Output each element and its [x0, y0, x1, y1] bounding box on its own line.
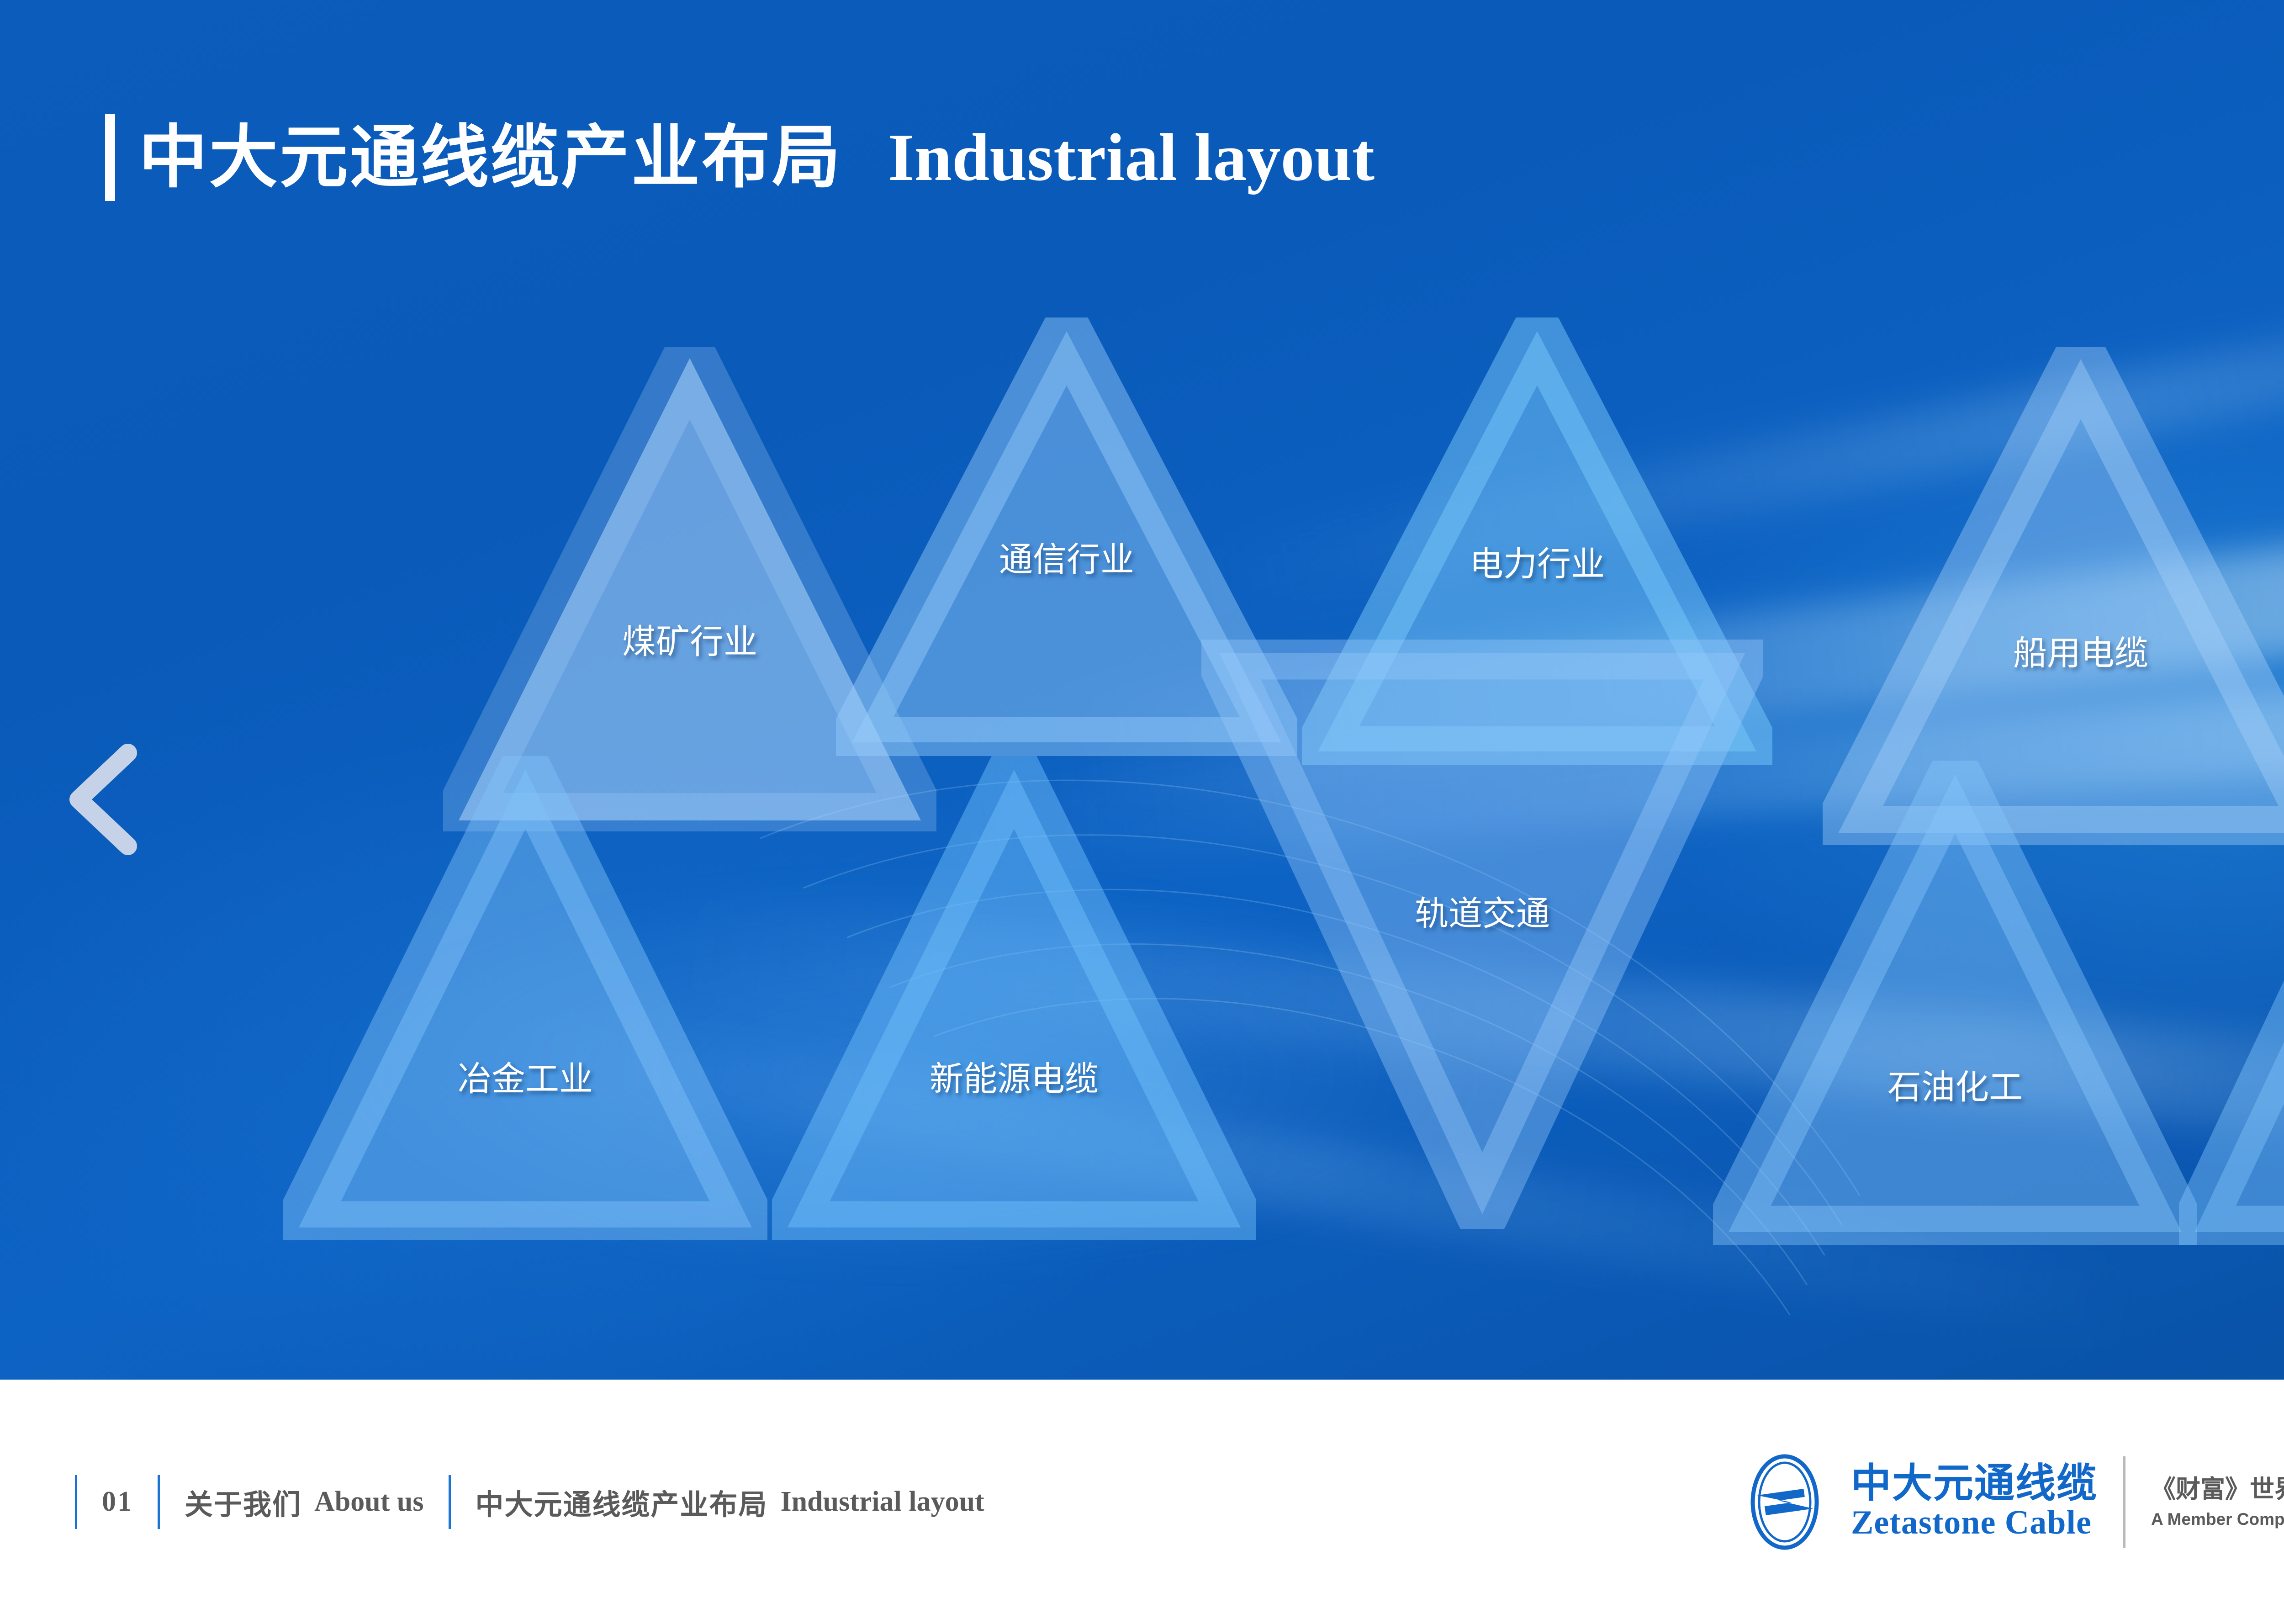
industry-sectors-triangle-diagram: 煤矿行业 通信行业 电力行业 船用电缆 — [292, 347, 2284, 1252]
triangle-up-shape — [1713, 761, 2197, 1245]
company-name-cn: 中大元通线缆 — [1851, 1462, 2098, 1504]
sector-new-energy[interactable]: 新能源电缆 — [772, 756, 1256, 1240]
sector-label: 船用电缆 — [2013, 633, 2148, 674]
presentation-slide: 中大元通线缆产业布局 Industrial layout 煤矿行业 通信行业 — [0, 0, 2284, 1624]
footer-divider — [449, 1475, 451, 1529]
sector-label: 石油化工 — [1887, 1067, 2023, 1108]
sector-rail[interactable]: 轨道交通 — [1201, 640, 1763, 1229]
footer-divider — [75, 1475, 77, 1529]
sector-metallurgy[interactable]: 冶金工业 — [283, 756, 767, 1240]
sector-home-decor[interactable]: 家居装饰 电缆 — [2179, 738, 2284, 1245]
company-tagline-en: A Member Company of WZ GROUP(Fortune Glo… — [2151, 1507, 2284, 1532]
sector-label: 通信行业 — [999, 539, 1134, 580]
footer-divider — [158, 1475, 160, 1529]
footer-topic-en: Industrial layout — [781, 1486, 984, 1518]
logo-divider — [2123, 1456, 2125, 1548]
slide-background: 中大元通线缆产业布局 Industrial layout 煤矿行业 通信行业 — [0, 0, 2284, 1380]
sector-label: 轨道交通 — [1415, 893, 1550, 934]
triangle-up-shape — [772, 756, 1256, 1240]
chevron-left-icon — [64, 740, 142, 859]
slide-footer: 01 关于我们 About us 中大元通线缆产业布局 Industrial l… — [0, 1380, 2284, 1624]
footer-topic-cn: 中大元通线缆产业布局 — [476, 1481, 768, 1523]
zetastone-z-ellipse-logo-icon — [1737, 1454, 1833, 1550]
sector-label: 煤矿行业 — [622, 621, 757, 662]
sector-label: 冶金工业 — [458, 1058, 593, 1100]
page-title-cn: 中大元通线缆产业布局 — [139, 123, 842, 192]
sector-petrochem[interactable]: 石油化工 — [1713, 761, 2197, 1245]
triangle-up-shape — [2179, 738, 2284, 1245]
page-title: 中大元通线缆产业布局 Industrial layout — [105, 114, 1375, 201]
company-tagline-cn: 《财富》世界500强 物产中大集团（上海600704）成员企业 — [2151, 1472, 2284, 1507]
company-branding: 中大元通线缆 Zetastone Cable 《财富》世界500强 物产中大集团… — [1737, 1380, 2284, 1624]
company-name-en: Zetastone Cable — [1851, 1504, 2098, 1541]
triangle-up-shape — [283, 756, 767, 1240]
page-title-en: Industrial layout — [888, 124, 1375, 191]
sector-label: 新能源电缆 — [930, 1058, 1099, 1100]
footer-section-en: About us — [314, 1486, 424, 1518]
prev-slide-button[interactable] — [64, 740, 142, 859]
breadcrumb: 01 关于我们 About us 中大元通线缆产业布局 Industrial l… — [50, 1475, 984, 1529]
footer-section-cn: 关于我们 — [185, 1481, 301, 1523]
sector-label: 电力行业 — [1470, 544, 1605, 585]
title-accent-bar — [105, 114, 115, 201]
page-number: 01 — [102, 1486, 133, 1518]
